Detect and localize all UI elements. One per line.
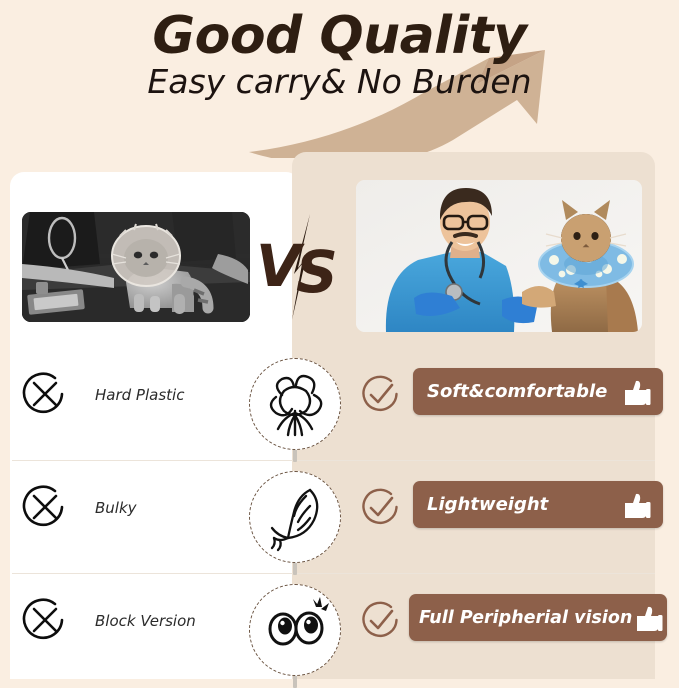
x-circle-icon [22,372,68,418]
check-circle-icon [360,375,400,415]
versus-badge: V S [248,212,358,322]
pro-badge: Soft&comfortable [413,368,663,415]
pro-badge: Lightweight [413,481,663,528]
comparison-row: Hard Plastic [0,348,679,461]
x-circle-icon [22,598,68,644]
page-title: Good Quality [0,6,679,66]
cotton-boll-icon [249,358,341,450]
pro-label: Lightweight [427,494,548,515]
pro-label: Soft&comfortable [427,381,607,402]
check-circle-icon [360,601,400,641]
feather-icon [249,471,341,563]
check-circle-icon [360,488,400,528]
header-banner: Good Quality Easy carry& No Burden [0,0,679,160]
thumbs-up-icon [633,603,663,633]
cat-with-hard-plastic-cone-photo [22,212,250,322]
con-label: Block Version [95,612,245,630]
svg-text:S: S [296,238,338,306]
infographic-page: Good Quality Easy carry& No Burden [0,0,679,679]
thumbs-up-icon [621,490,651,520]
comparison-row: Block Version F [0,574,679,687]
thumbs-up-icon [621,377,651,407]
con-label: Hard Plastic [95,386,245,404]
page-subtitle: Easy carry& No Burden [0,62,679,101]
pro-label: Full Peripherial vision [419,608,632,628]
veterinarian-with-cat-in-soft-collar-photo [356,180,642,332]
pro-badge: Full Peripherial vision [409,594,667,641]
x-circle-icon [22,485,68,531]
con-label: Bulky [95,499,245,517]
comparison-row: Bulky [0,461,679,574]
wide-open-eyes-icon [249,584,341,676]
